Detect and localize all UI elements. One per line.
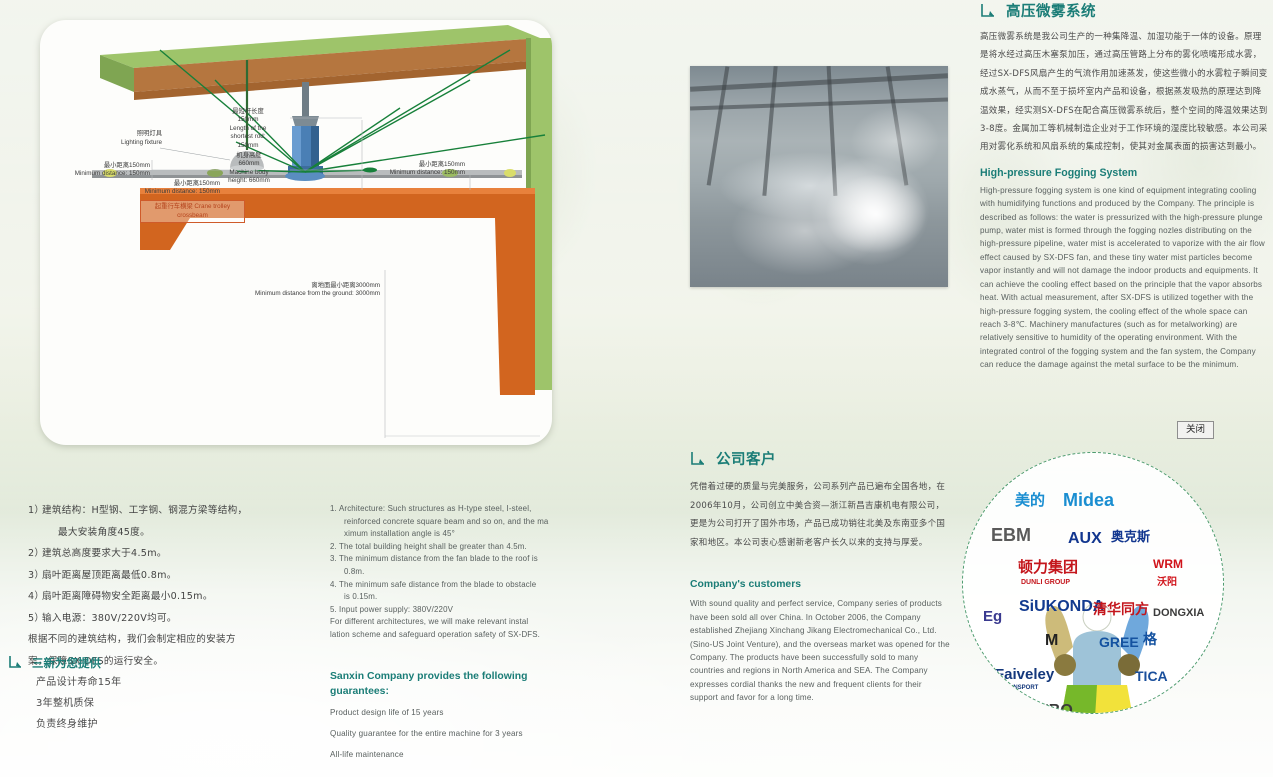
spec-text: 输入电源：380V/220V均可。 — [42, 613, 177, 624]
spec-text: Architecture: Such structures as H-type … — [339, 504, 531, 513]
label-min-distance-left: 最小距离150mm Minimum distance: 150mm — [40, 162, 150, 179]
guarantee-title: Sanxin Company provides the following gu… — [330, 670, 570, 699]
provides-title: 三新为您提供 — [32, 655, 101, 671]
spec-text: ximum installation angle is 45° — [344, 529, 455, 538]
customer-logo: WRM — [1153, 558, 1183, 570]
spec-item-en: 2.The total building height shall be gre… — [330, 541, 568, 554]
specs-list-cn: 1） 建筑结构：H型钢、工字钢、钢混方梁等结构， 最大安装角度45度。 2） 建… — [28, 500, 328, 672]
spec-item-cn: 4） 扇叶距离障碍物安全距离最小0.15m。 — [28, 586, 328, 608]
specs-list-en: 1.Architecture: Such structures as H-typ… — [330, 503, 568, 642]
spec-item-en: 5.Input power supply: 380V/220V — [330, 604, 568, 617]
customer-logo: Faiveley — [995, 667, 1054, 682]
guarantee-section: Sanxin Company provides the following gu… — [330, 670, 570, 762]
spec-item-cn: 5） 输入电源：380V/220V均可。 — [28, 608, 328, 630]
spec-item-cn: 3） 扇叶距离屋顶距离最低0.8m。 — [28, 565, 328, 587]
label-crane-crossbeam: 起重行车横梁 Crane trolley crossbeam — [140, 200, 245, 223]
provides-line: 产品设计寿命15年 — [8, 672, 318, 693]
label-lighting-fixture: 照明灯具 — [96, 130, 162, 138]
customers-section: 公司客户 凭借着过硬的质量与完美服务，公司系列产品已遍布全国各地，在2006年1… — [690, 448, 950, 705]
spec-item-en: 0.8m. — [330, 566, 568, 579]
customer-logo: 格 — [1143, 633, 1157, 647]
spec-text: The total building height shall be great… — [339, 542, 527, 551]
guarantee-line: Quality guarantee for the entire machine… — [330, 727, 570, 741]
spec-text: The minimum distance from the fan blade … — [339, 554, 538, 563]
customers-title-cn: 公司客户 — [716, 448, 776, 469]
guarantee-line: All-life maintenance — [330, 748, 570, 762]
fogging-title-cn: 高压微雾系统 — [1006, 0, 1096, 21]
customers-title-en: Company's customers — [690, 578, 950, 592]
specs-footer-en-2: lation scheme and safeguard operation sa… — [330, 629, 568, 642]
customer-logos-circle: 美的MideaEBMAUX奥克斯顿力集团DUNLI GROUPWRM沃阳SiUK… — [962, 452, 1224, 714]
customer-logo: DONGXIA — [1153, 608, 1204, 619]
spec-text: 0.8m. — [344, 567, 364, 576]
label-shortest-rod: 最短杆长度 150mm Length of the shortest rod: … — [218, 108, 278, 150]
customer-logo: TRANSPORT — [1001, 685, 1038, 691]
spec-number: 4） — [28, 586, 44, 608]
fogging-body-cn: 高压微雾系统是我公司生产的一种集降温、加湿功能于一体的设备。原理是将水经过高压木… — [980, 28, 1270, 157]
customer-logo: 奥克斯 — [1111, 531, 1150, 544]
provides-line: 3年整机质保 — [8, 693, 318, 714]
customer-logo: ZYMBO — [1015, 703, 1073, 714]
provides-section: 三新为您提供 产品设计寿命15年 3年整机质保 负责终身维护 — [8, 654, 318, 735]
installation-diagram-card: 照明灯具 Lighting fixture 最短杆长度 150mm Length… — [40, 20, 552, 445]
fogging-title-en: High-pressure Fogging System — [980, 166, 1270, 180]
spec-number: 2. — [330, 541, 337, 554]
customers-body-en: With sound quality and perfect service, … — [690, 597, 950, 704]
spec-text: is 0.15m. — [344, 592, 377, 601]
spec-item-cn: 1） 建筑结构：H型钢、工字钢、钢混方梁等结构， — [28, 500, 328, 522]
spec-text: Input power supply: 380V/220V — [339, 605, 453, 614]
spec-number: 3） — [28, 565, 44, 587]
customer-logo: 顿力集团 — [1018, 560, 1078, 575]
spec-number: 1. — [330, 503, 337, 516]
spec-text: 建筑总高度要求大于4.5m。 — [42, 548, 167, 559]
close-button[interactable]: 关闭 — [1177, 421, 1214, 439]
fogging-system-section: 高压微雾系统 高压微雾系统是我公司生产的一种集降温、加湿功能于一体的设备。原理是… — [980, 0, 1270, 372]
customer-logo: AUX — [1068, 531, 1102, 547]
label-machine-body-height: 机身高度 660mm Machine body height: 660mm — [218, 152, 280, 186]
arrow-down-right-icon — [690, 450, 708, 468]
spec-text: 建筑结构：H型钢、工字钢、钢混方梁等结构， — [42, 505, 247, 516]
specs-footer-en-1: For different architectures, we will mak… — [330, 616, 568, 629]
customer-logo: Eg — [983, 609, 1002, 624]
spec-item-en: is 0.15m. — [330, 591, 568, 604]
customer-logo: SiUKONDA — [1019, 599, 1104, 615]
fogging-body-en: High-pressure fogging system is one kind… — [980, 184, 1270, 372]
fogging-system-photo — [690, 66, 948, 287]
label-ground-distance: 离地面最小距离3000mm Minimum distance from the … — [190, 282, 380, 299]
spec-item-en: ximum installation angle is 45° — [330, 528, 568, 541]
customers-heading: 公司客户 — [690, 448, 950, 469]
customer-logo: 美的 — [1015, 493, 1045, 508]
spec-number: 5. — [330, 604, 337, 617]
provides-line: 负责终身维护 — [8, 714, 318, 735]
spec-item-en: 4.The minimum safe distance from the bla… — [330, 579, 568, 592]
spec-item-en: 3.The minimum distance from the fan blad… — [330, 553, 568, 566]
spec-item-cn: 2） 建筑总高度要求大于4.5m。 — [28, 543, 328, 565]
spec-item-en: 1.Architecture: Such structures as H-typ… — [330, 503, 568, 516]
customer-logo: GREE — [1099, 635, 1139, 649]
spec-text: reinforced concrete square beam and so o… — [344, 517, 548, 526]
label-min-distance-right: 最小距离150mm Minimum distance: 150mm — [340, 161, 465, 178]
spec-text: 扇叶距离屋顶距离最低0.8m。 — [42, 570, 177, 581]
spec-item-en: reinforced concrete square beam and so o… — [330, 516, 568, 529]
customer-logo: EBM — [991, 526, 1031, 544]
spec-number: 4. — [330, 579, 337, 592]
label-min-distance-mid: 最小距离150mm Minimum distance: 150mm — [98, 180, 220, 197]
spec-text: The minimum safe distance from the blade… — [339, 580, 536, 589]
spec-number: 1） — [28, 500, 44, 522]
spec-number: 5） — [28, 608, 44, 630]
arrow-down-right-icon — [8, 654, 26, 672]
specs-footer-cn-1: 根据不同的建筑结构，我们会制定相应的安装方 — [28, 629, 328, 651]
provides-heading: 三新为您提供 — [8, 654, 318, 672]
customer-logo: 沃阳 — [1157, 578, 1177, 588]
spec-number: 3. — [330, 553, 337, 566]
customer-logo: M — [1045, 633, 1058, 649]
spec-item-cn-cont: 最大安装角度45度。 — [28, 522, 328, 544]
installation-diagram-svg — [40, 20, 552, 445]
customer-logo: Midea — [1063, 491, 1114, 509]
customer-logo: DUNLI GROUP — [1021, 579, 1070, 586]
fogging-section-heading: 高压微雾系统 — [980, 0, 1270, 21]
arrow-down-right-icon — [980, 2, 998, 20]
customer-logo: 清华同方 — [1093, 603, 1149, 617]
customer-logo: TICA — [1135, 669, 1168, 683]
spec-number: 2） — [28, 543, 44, 565]
guarantee-line: Product design life of 15 years — [330, 706, 570, 720]
customer-logo: RIFA — [1163, 705, 1202, 714]
spec-text: 扇叶距离障碍物安全距离最小0.15m。 — [42, 591, 213, 602]
customers-body-cn: 凭借着过硬的质量与完美服务，公司系列产品已遍布全国各地，在2006年10月，公司… — [690, 478, 950, 552]
label-lighting-fixture-en: Lighting fixture — [86, 139, 162, 147]
